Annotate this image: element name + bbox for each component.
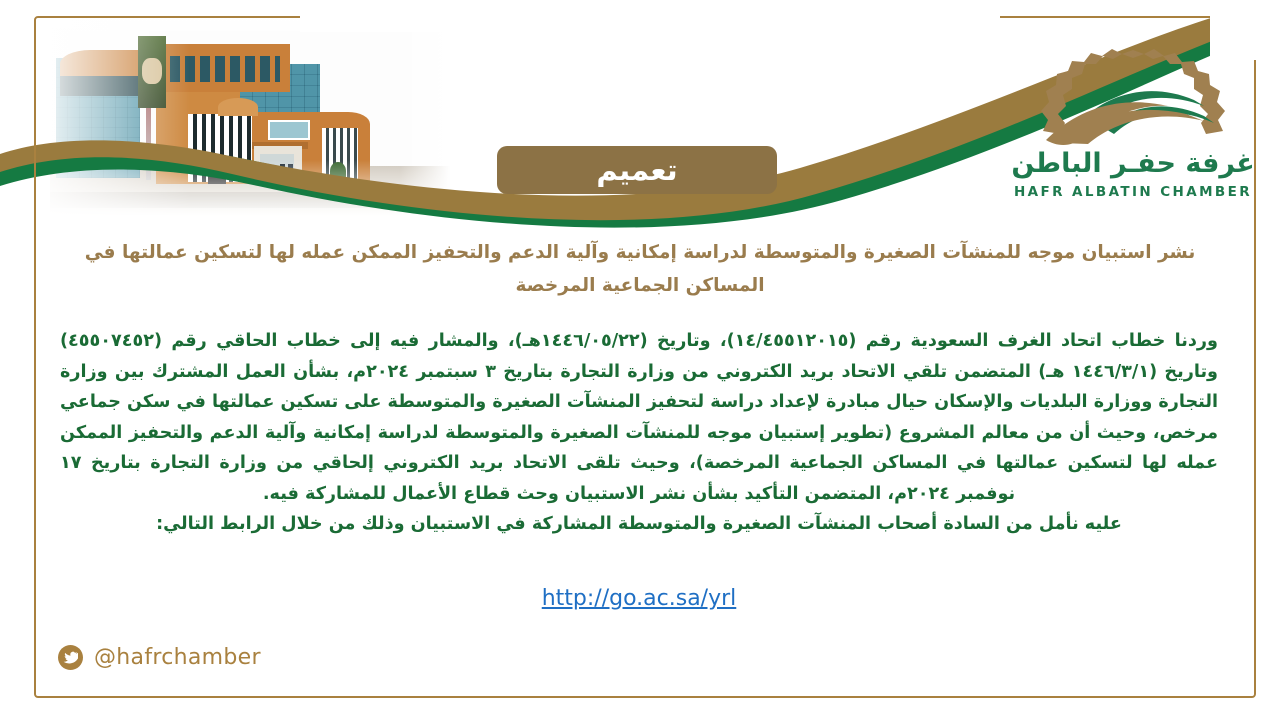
- twitter-bird-icon[interactable]: [58, 645, 83, 670]
- body-paragraph-2: عليه نأمل من السادة أصحاب المنشآت الصغير…: [60, 509, 1218, 540]
- footer-social: @hafrchamber: [58, 645, 261, 670]
- frame-gap-top: [300, 6, 1000, 32]
- chamber-logo: غرفة حفـر الباطن HAFR ALBATIN CHAMBER: [1008, 44, 1258, 212]
- document-subtitle: نشر استبيان موجه للمنشآت الصغيرة والمتوس…: [70, 236, 1210, 302]
- circular-document-page: تعميم غرفة حفـر الباطن HAFR ALBATIN CHAM…: [0, 0, 1280, 720]
- survey-link-row: http://go.ac.sa/yrl: [60, 586, 1218, 611]
- logo-emblem-icon: [1008, 44, 1258, 154]
- twitter-handle[interactable]: @hafrchamber: [94, 645, 261, 670]
- logo-name-arabic: غرفة حفـر الباطن: [1008, 148, 1258, 179]
- logo-name-english: HAFR ALBATIN CHAMBER: [1008, 184, 1258, 200]
- page-title: تعميم: [596, 153, 677, 187]
- document-body: وردنا خطاب اتحاد الغرف السعودية رقم (١٤/…: [60, 326, 1218, 540]
- circular-title-banner: تعميم: [497, 146, 777, 194]
- survey-link[interactable]: http://go.ac.sa/yrl: [542, 586, 737, 611]
- body-paragraph-1: وردنا خطاب اتحاد الغرف السعودية رقم (١٤/…: [60, 326, 1218, 509]
